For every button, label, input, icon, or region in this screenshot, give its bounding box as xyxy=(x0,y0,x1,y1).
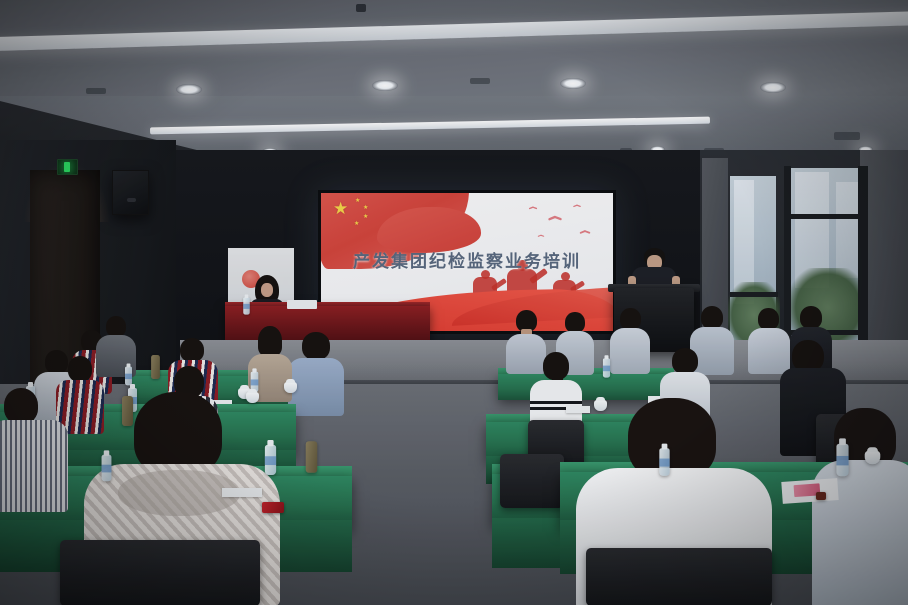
host-face xyxy=(261,283,273,297)
downlight-icon xyxy=(176,84,202,95)
attendee-head xyxy=(565,312,585,333)
wristwatch-icon xyxy=(816,492,826,500)
flag-star-small-icon: ★ xyxy=(363,214,368,220)
ceiling-vent-icon xyxy=(834,132,860,140)
downlight-icon xyxy=(560,78,586,89)
bottle-icon xyxy=(243,297,249,314)
flag-star-small-icon: ★ xyxy=(355,198,360,204)
attendee xyxy=(0,388,68,508)
flag-star-large-icon: ★ xyxy=(333,200,348,217)
printed-handout xyxy=(781,478,838,504)
exit-running-man-icon xyxy=(64,162,70,172)
attendee xyxy=(530,352,582,430)
attendee-torso xyxy=(0,420,68,512)
chair xyxy=(586,548,772,605)
bird-icon xyxy=(580,229,591,234)
window-mullion xyxy=(790,214,864,219)
bird-icon xyxy=(548,215,562,221)
notepad xyxy=(222,488,262,497)
downlight-icon xyxy=(372,80,398,91)
bottle-icon xyxy=(265,445,276,475)
downlight-icon xyxy=(760,82,786,93)
bottle-icon xyxy=(659,448,669,476)
attendee xyxy=(610,308,650,372)
ceiling-light-strip-1 xyxy=(0,10,908,52)
conference-room-photo: ★ ★ ★ ★ ★ 产发集团纪检监察业务培训 xyxy=(0,0,908,605)
chair xyxy=(60,540,260,605)
window-mullion xyxy=(730,292,778,297)
attendee-head xyxy=(106,316,126,337)
ceiling-vent-icon xyxy=(86,88,106,94)
attendee-head xyxy=(672,348,698,374)
attendee-head xyxy=(258,326,282,356)
bottle-icon xyxy=(836,444,848,476)
teacup-icon xyxy=(284,382,297,393)
ceiling-vent-icon xyxy=(470,78,490,84)
attendee-head xyxy=(68,356,92,382)
slide-title: 产发集团纪检监察业务培训 xyxy=(321,247,613,272)
attendee xyxy=(288,332,344,412)
attendee-head xyxy=(620,308,641,330)
attendee-head xyxy=(800,306,822,329)
attendee-head xyxy=(180,338,204,362)
name-plate xyxy=(287,300,317,309)
smartphone-icon[interactable] xyxy=(262,502,284,513)
sprinkler-icon xyxy=(356,4,366,12)
flag-star-small-icon: ★ xyxy=(363,205,368,211)
wall-speaker-left xyxy=(112,170,149,215)
building-outside xyxy=(836,182,858,278)
bird-icon xyxy=(538,234,545,237)
attendee xyxy=(812,408,908,605)
bottle-icon xyxy=(125,367,132,386)
bird-icon xyxy=(529,206,537,210)
attendee-head xyxy=(701,306,723,329)
chair xyxy=(500,454,564,508)
exit-sign xyxy=(57,159,78,175)
flag-star-small-icon: ★ xyxy=(354,221,359,227)
bottle-icon xyxy=(102,455,112,481)
bird-icon xyxy=(573,204,581,207)
attendee-torso xyxy=(610,328,650,374)
teacup-icon xyxy=(865,451,881,464)
bottle-icon xyxy=(603,358,610,377)
attendee-head xyxy=(758,308,779,330)
attendee-head xyxy=(4,388,38,424)
attendee-head xyxy=(302,332,330,360)
thermos-icon xyxy=(306,441,318,473)
